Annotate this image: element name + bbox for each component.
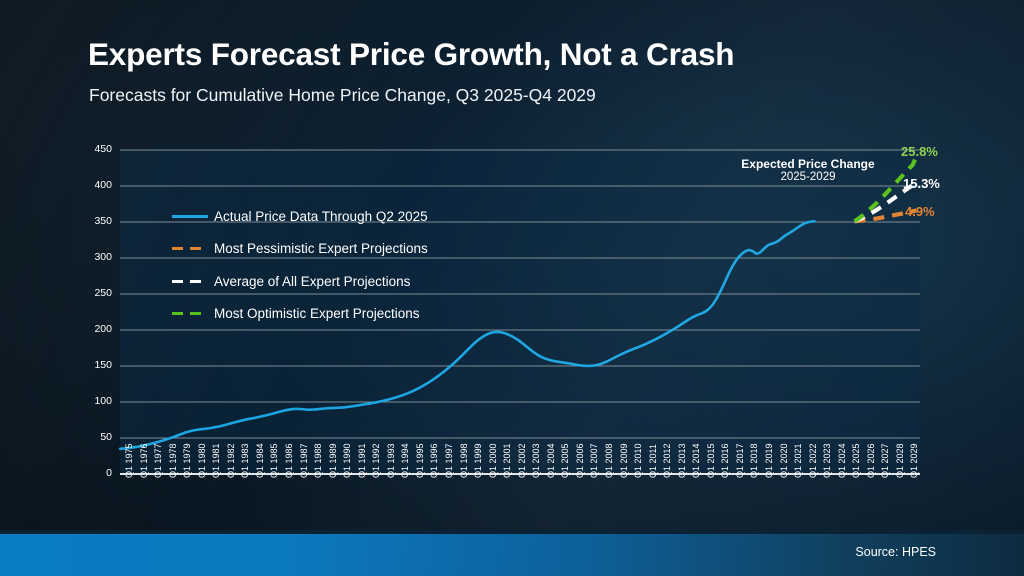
x-tick-label-2018: Q1 2018 [749, 443, 759, 478]
x-tick-label-1977: Q1 1977 [153, 443, 163, 478]
x-tick-label-2024: Q1 2024 [837, 443, 847, 478]
y-tick-label-350: 350 [74, 215, 112, 227]
x-tick-label-2021: Q1 2021 [793, 443, 803, 478]
legend-swatch-optimistic-icon [172, 312, 208, 315]
x-tick-label-1998: Q1 1998 [459, 443, 469, 478]
x-tick-label-1987: Q1 1987 [299, 443, 309, 478]
y-tick-label-50: 50 [74, 431, 112, 443]
x-tick-label-1994: Q1 1994 [400, 443, 410, 478]
x-tick-label-2027: Q1 2027 [880, 443, 890, 478]
x-tick-label-2023: Q1 2023 [822, 443, 832, 478]
x-tick-label-2017: Q1 2017 [735, 443, 745, 478]
x-tick-label-2019: Q1 2019 [764, 443, 774, 478]
legend-item-actual[interactable]: Actual Price Data Through Q2 2025 [172, 200, 428, 233]
y-tick-label-150: 150 [74, 359, 112, 371]
annotation-line-1: Expected Price Change [733, 157, 883, 171]
x-tick-label-2020: Q1 2020 [779, 443, 789, 478]
legend-swatch-actual-icon [172, 215, 208, 218]
x-tick-label-1996: Q1 1996 [429, 443, 439, 478]
y-tick-label-300: 300 [74, 251, 112, 263]
x-tick-label-1976: Q1 1976 [139, 443, 149, 478]
x-tick-label-2010: Q1 2010 [633, 443, 643, 478]
x-tick-label-2016: Q1 2016 [720, 443, 730, 478]
x-tick-label-1988: Q1 1988 [313, 443, 323, 478]
legend-label-average: Average of All Expert Projections [214, 274, 410, 289]
x-tick-label-2028: Q1 2028 [895, 443, 905, 478]
value-label-pessimistic: 4.9% [905, 204, 935, 219]
chart-svg [0, 0, 1024, 576]
x-tick-label-2005: Q1 2005 [560, 443, 570, 478]
x-tick-label-1975: Q1 1975 [124, 443, 134, 478]
legend-label-actual: Actual Price Data Through Q2 2025 [214, 209, 428, 224]
x-tick-label-1990: Q1 1990 [342, 443, 352, 478]
x-tick-label-2004: Q1 2004 [546, 443, 556, 478]
x-tick-label-2012: Q1 2012 [662, 443, 672, 478]
x-tick-label-1982: Q1 1982 [226, 443, 236, 478]
legend-label-pessimistic: Most Pessimistic Expert Projections [214, 241, 428, 256]
expected-price-change-annotation: Expected Price Change 2025-2029 [733, 157, 883, 183]
x-tick-label-2026: Q1 2026 [866, 443, 876, 478]
x-tick-label-1989: Q1 1989 [328, 443, 338, 478]
x-tick-label-2011: Q1 2011 [648, 444, 658, 478]
x-tick-label-1980: Q1 1980 [197, 443, 207, 478]
chart-area: 050100150200250300350400450 Q1 1975Q1 19… [0, 0, 1024, 576]
x-tick-label-2008: Q1 2008 [604, 443, 614, 478]
x-tick-label-2000: Q1 2000 [488, 443, 498, 478]
x-tick-label-2029: Q1 2029 [909, 443, 919, 478]
x-tick-label-2022: Q1 2022 [808, 443, 818, 478]
legend-item-optimistic[interactable]: Most Optimistic Expert Projections [172, 298, 428, 331]
y-tick-label-400: 400 [74, 179, 112, 191]
x-tick-label-2025: Q1 2025 [851, 443, 861, 478]
legend-label-optimistic: Most Optimistic Expert Projections [214, 306, 420, 321]
x-tick-label-2007: Q1 2007 [589, 443, 599, 478]
source-label: Source: HPES [855, 545, 936, 559]
annotation-line-2: 2025-2029 [733, 171, 883, 183]
footer-bar: Source: HPES [0, 534, 1024, 576]
value-label-optimistic: 25.8% [901, 144, 938, 159]
x-tick-label-1995: Q1 1995 [415, 443, 425, 478]
x-tick-label-1999: Q1 1999 [473, 443, 483, 478]
x-tick-label-2003: Q1 2003 [531, 443, 541, 478]
x-tick-label-1986: Q1 1986 [284, 443, 294, 478]
legend-item-average[interactable]: Average of All Expert Projections [172, 265, 428, 298]
legend-swatch-pessimistic-icon [172, 247, 208, 250]
y-tick-label-100: 100 [74, 395, 112, 407]
x-tick-label-1979: Q1 1979 [182, 443, 192, 478]
x-tick-label-2015: Q1 2015 [706, 443, 716, 478]
x-tick-label-2006: Q1 2006 [575, 443, 585, 478]
legend-item-pessimistic[interactable]: Most Pessimistic Expert Projections [172, 233, 428, 266]
slide-root: Experts Forecast Price Growth, Not a Cra… [0, 0, 1024, 576]
x-tick-label-2002: Q1 2002 [517, 443, 527, 478]
x-tick-label-1993: Q1 1993 [386, 443, 396, 478]
y-tick-label-250: 250 [74, 287, 112, 299]
x-tick-label-1984: Q1 1984 [255, 443, 265, 478]
x-tick-label-2009: Q1 2009 [619, 443, 629, 478]
x-tick-label-2001: Q1 2001 [502, 443, 512, 478]
chart-legend: Actual Price Data Through Q2 2025Most Pe… [172, 200, 428, 330]
x-tick-label-1992: Q1 1992 [371, 443, 381, 478]
x-tick-label-1991: Q1 1991 [357, 443, 367, 478]
x-tick-label-1985: Q1 1985 [269, 443, 279, 478]
legend-swatch-average-icon [172, 280, 208, 283]
x-tick-label-1997: Q1 1997 [444, 443, 454, 478]
x-tick-label-2014: Q1 2014 [691, 443, 701, 478]
x-tick-label-2013: Q1 2013 [677, 443, 687, 478]
x-tick-label-1983: Q1 1983 [240, 443, 250, 478]
x-tick-label-1981: Q1 1981 [211, 443, 221, 478]
y-tick-label-200: 200 [74, 323, 112, 335]
value-label-average: 15.3% [903, 176, 940, 191]
x-tick-label-1978: Q1 1978 [168, 443, 178, 478]
y-tick-label-450: 450 [74, 143, 112, 155]
y-tick-label-0: 0 [74, 467, 112, 479]
